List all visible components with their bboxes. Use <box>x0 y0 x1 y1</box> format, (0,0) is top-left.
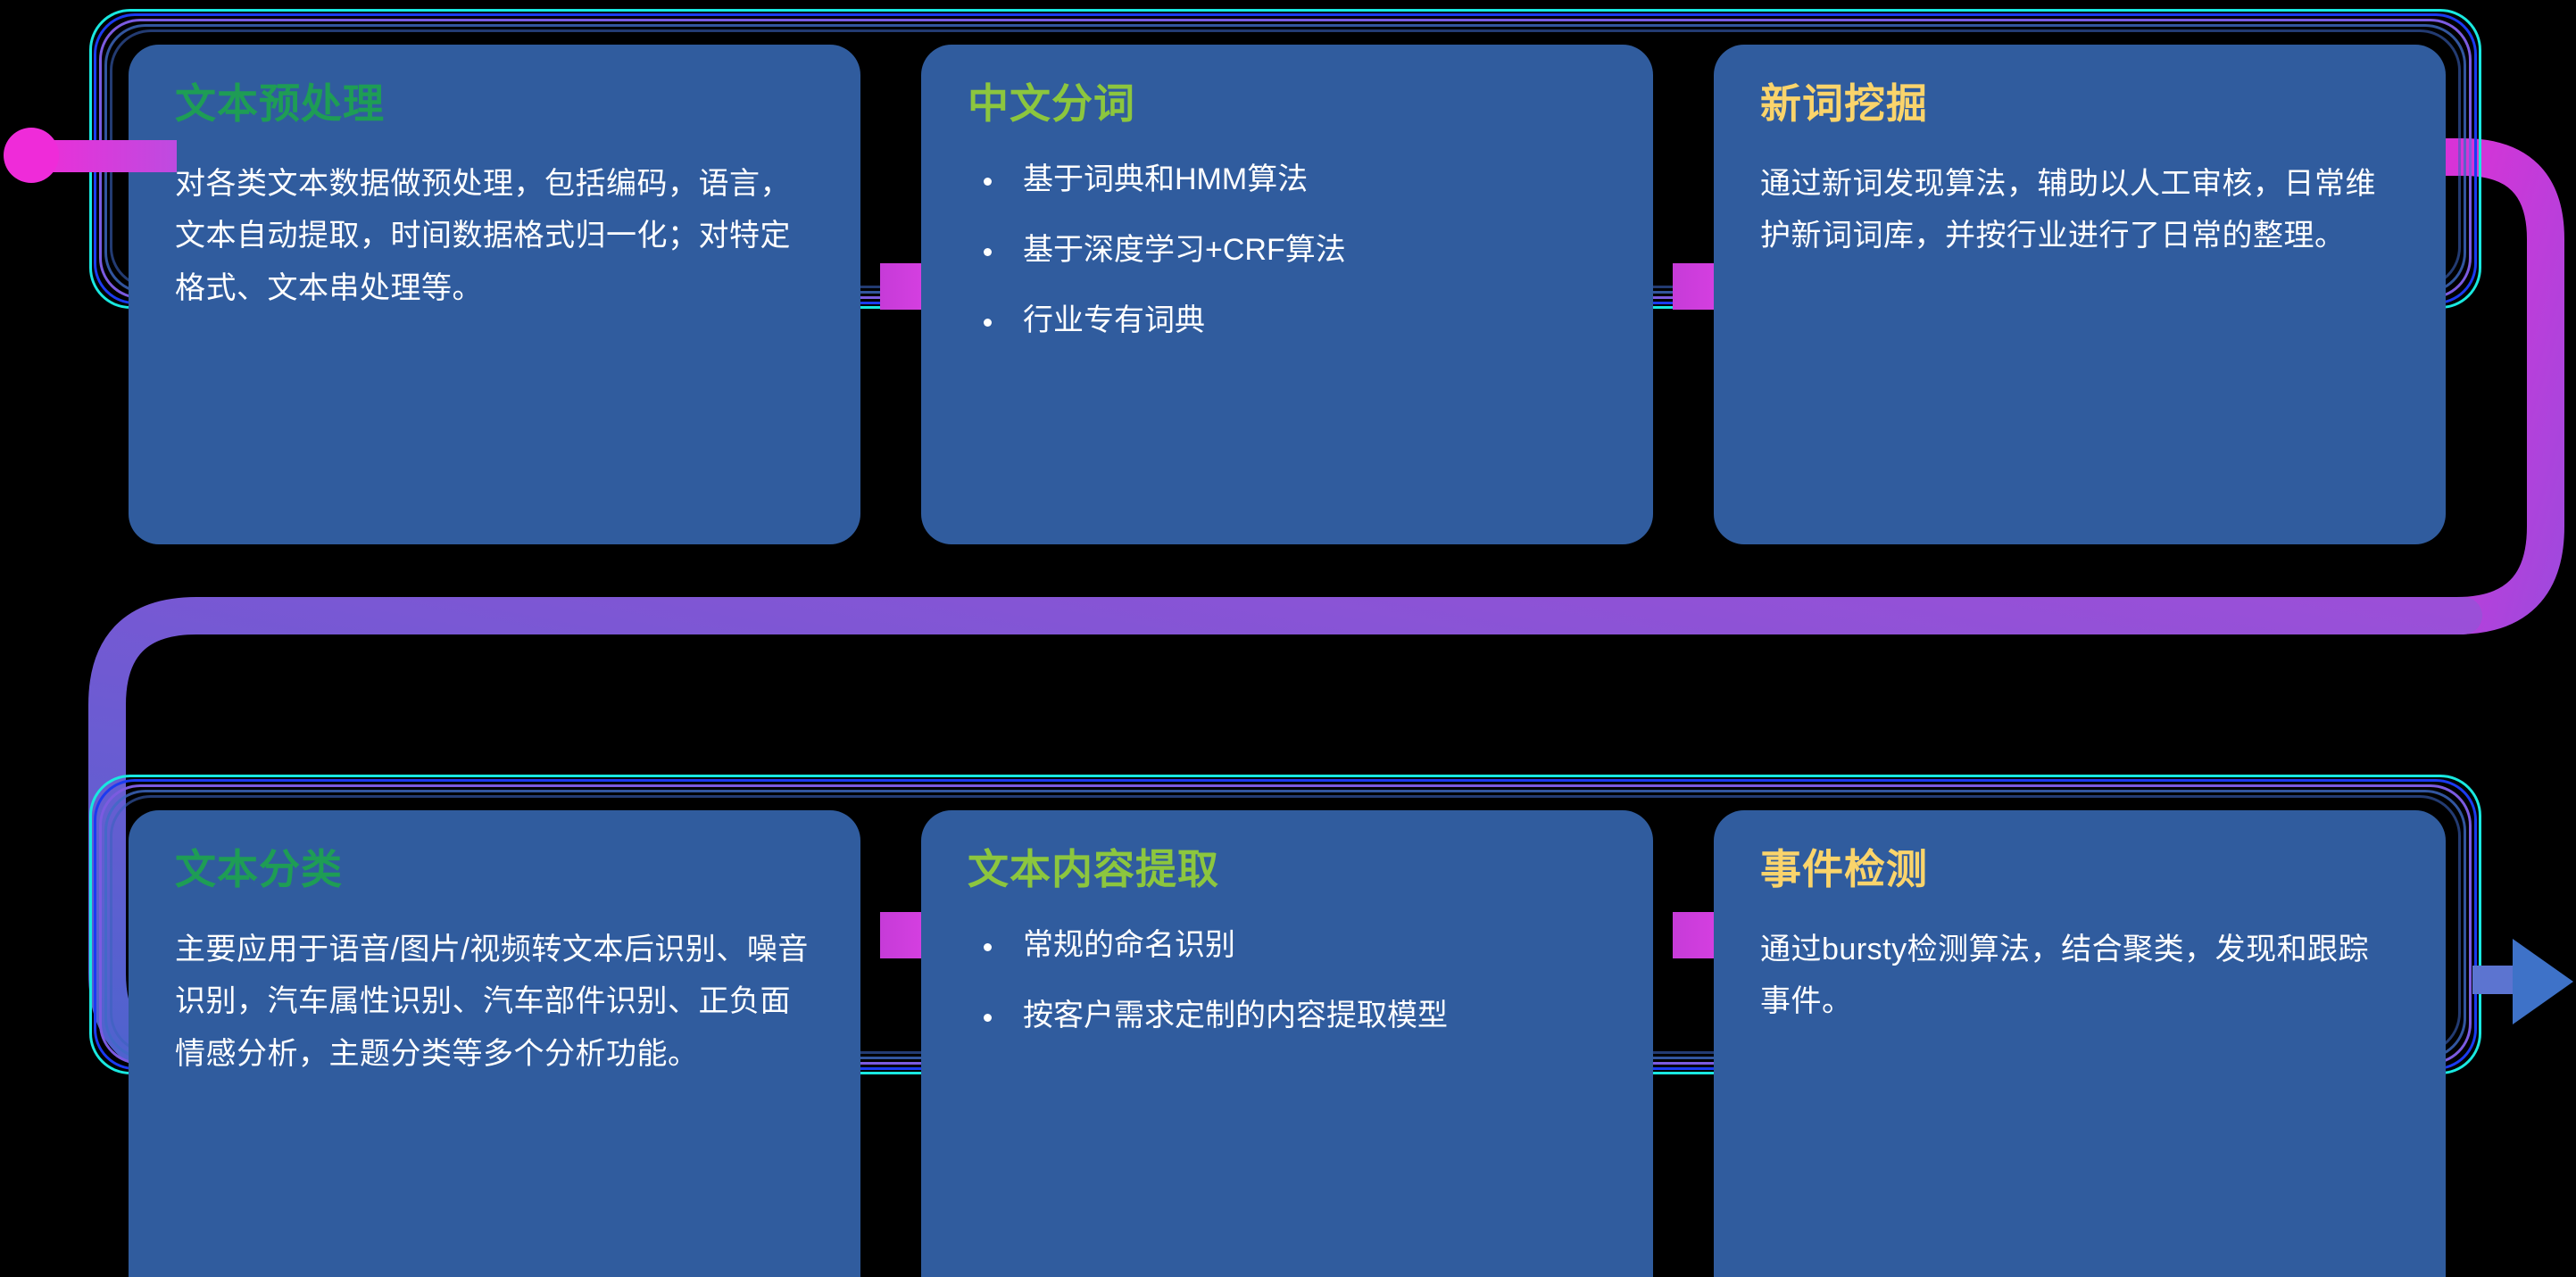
card-title: 文本内容提取 <box>968 846 1607 893</box>
connector-tab-2-3 <box>1673 263 1714 310</box>
card-chinese-word-segmentation[interactable]: 中文分词 基于词典和HMM算法 基于深度学习+CRF算法 行业专有词典 <box>921 45 1653 544</box>
card-body: 通过bursty检测算法，结合聚类，发现和跟踪事件。 <box>1760 924 2399 1028</box>
list-item: 按客户需求定制的内容提取模型 <box>968 994 1607 1038</box>
card-event-detection[interactable]: 事件检测 通过bursty检测算法，结合聚类，发现和跟踪事件。 <box>1714 810 2446 1277</box>
card-title: 文本分类 <box>175 846 814 893</box>
list-item: 基于深度学习+CRF算法 <box>968 228 1607 272</box>
list-item: 常规的命名识别 <box>968 924 1607 967</box>
card-text-content-extraction[interactable]: 文本内容提取 常规的命名识别 按客户需求定制的内容提取模型 <box>921 810 1653 1277</box>
card-title: 事件检测 <box>1760 846 2399 893</box>
connector-tab-1-2 <box>880 263 921 310</box>
card-new-word-discovery[interactable]: 新词挖掘 通过新词发现算法，辅助以人工审核，日常维护新词词库，并按行业进行了日常… <box>1714 45 2446 544</box>
list-item: 行业专有词典 <box>968 299 1607 343</box>
list-item: 基于词典和HMM算法 <box>968 158 1607 202</box>
card-body: 对各类文本数据做预处理，包括编码，语言，文本自动提取，时间数据格式归一化；对特定… <box>175 158 814 314</box>
card-text-preprocessing[interactable]: 文本预处理 对各类文本数据做预处理，包括编码，语言，文本自动提取，时间数据格式归… <box>129 45 860 544</box>
diagram-canvas: 文本预处理 对各类文本数据做预处理，包括编码，语言，文本自动提取，时间数据格式归… <box>0 0 2576 1277</box>
card-body: 通过新词发现算法，辅助以人工审核，日常维护新词词库，并按行业进行了日常的整理。 <box>1760 158 2399 262</box>
flow-start-dot <box>4 128 59 183</box>
connector-tab-5-6 <box>1673 912 1714 958</box>
card-title: 中文分词 <box>968 80 1607 128</box>
card-bullet-list: 常规的命名识别 按客户需求定制的内容提取模型 <box>968 924 1607 1039</box>
connector-tab-4-5 <box>880 912 921 958</box>
flow-end-arrow-icon <box>2513 939 2573 1024</box>
card-bullet-list: 基于词典和HMM算法 基于深度学习+CRF算法 行业专有词典 <box>968 158 1607 344</box>
flow-start-bar <box>43 140 177 172</box>
card-title: 新词挖掘 <box>1760 80 2399 128</box>
card-title: 文本预处理 <box>175 80 814 128</box>
card-text-classification[interactable]: 文本分类 主要应用于语音/图片/视频转文本后识别、噪音识别，汽车属性识别、汽车部… <box>129 810 860 1277</box>
card-body: 主要应用于语音/图片/视频转文本后识别、噪音识别，汽车属性识别、汽车部件识别、正… <box>175 924 814 1080</box>
